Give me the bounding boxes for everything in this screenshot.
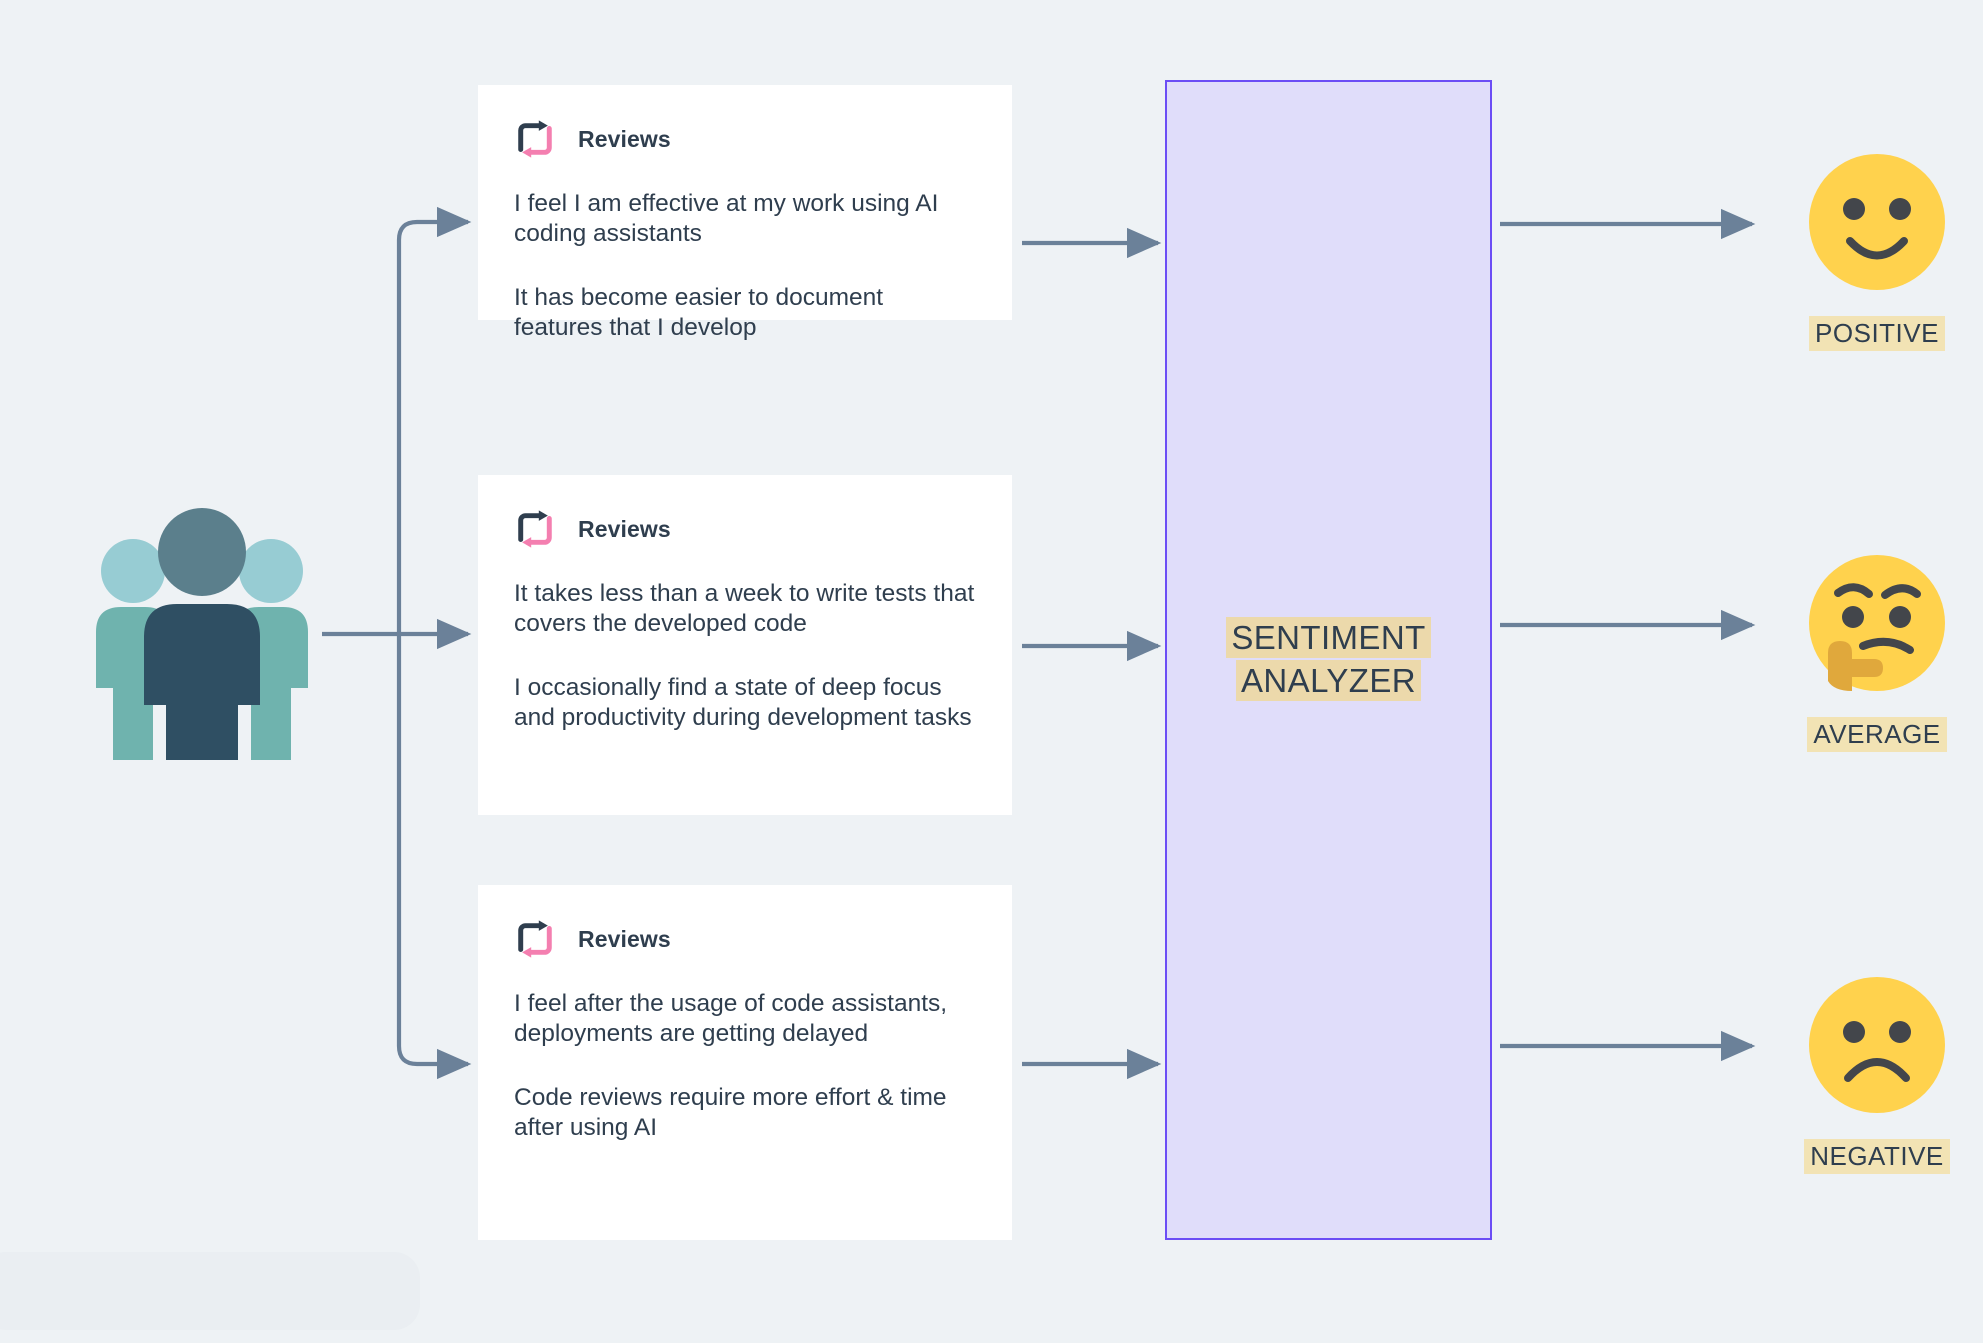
card-header: Reviews [514,509,976,549]
review-quote: I occasionally find a state of deep focu… [514,673,976,733]
analyzer-label-line2: ANALYZER [1236,660,1421,701]
sentiment-result-negative: NEGATIVE [1762,975,1983,1174]
review-card[interactable]: Reviews It takes less than a week to wri… [478,475,1012,815]
review-quote: I feel after the usage of code assistant… [514,989,976,1049]
smiling-face-icon [1807,152,1947,292]
card-title: Reviews [578,516,671,543]
repeat-loop-icon [514,119,556,159]
card-title: Reviews [578,926,671,953]
review-card[interactable]: Reviews I feel after the usage of code a… [478,885,1012,1240]
review-quote: It takes less than a week to write tests… [514,579,976,639]
sentiment-result-positive: POSITIVE [1762,152,1983,351]
people-group-icon [78,498,326,760]
repeat-loop-icon [514,919,556,959]
sentiment-label: NEGATIVE [1804,1139,1950,1174]
review-quote: I feel I am effective at my work using A… [514,189,976,249]
thinking-face-icon [1807,553,1947,693]
review-quote: Code reviews require more effort & time … [514,1083,976,1143]
review-card[interactable]: Reviews I feel I am effective at my work… [478,85,1012,320]
card-header: Reviews [514,919,976,959]
repeat-loop-icon [514,509,556,549]
analyzer-label: SENTIMENT ANALYZER [1226,617,1430,703]
review-quote: It has become easier to document feature… [514,283,976,343]
sentiment-label: AVERAGE [1807,717,1946,752]
sentiment-result-average: AVERAGE [1762,553,1983,752]
card-title: Reviews [578,126,671,153]
frowning-face-icon [1807,975,1947,1115]
card-header: Reviews [514,119,976,159]
sentiment-label: POSITIVE [1809,316,1945,351]
sentiment-analyzer-box[interactable]: SENTIMENT ANALYZER [1165,80,1492,1240]
analyzer-label-line1: SENTIMENT [1226,617,1430,658]
diagram-canvas: Reviews I feel I am effective at my work… [0,0,1983,1343]
